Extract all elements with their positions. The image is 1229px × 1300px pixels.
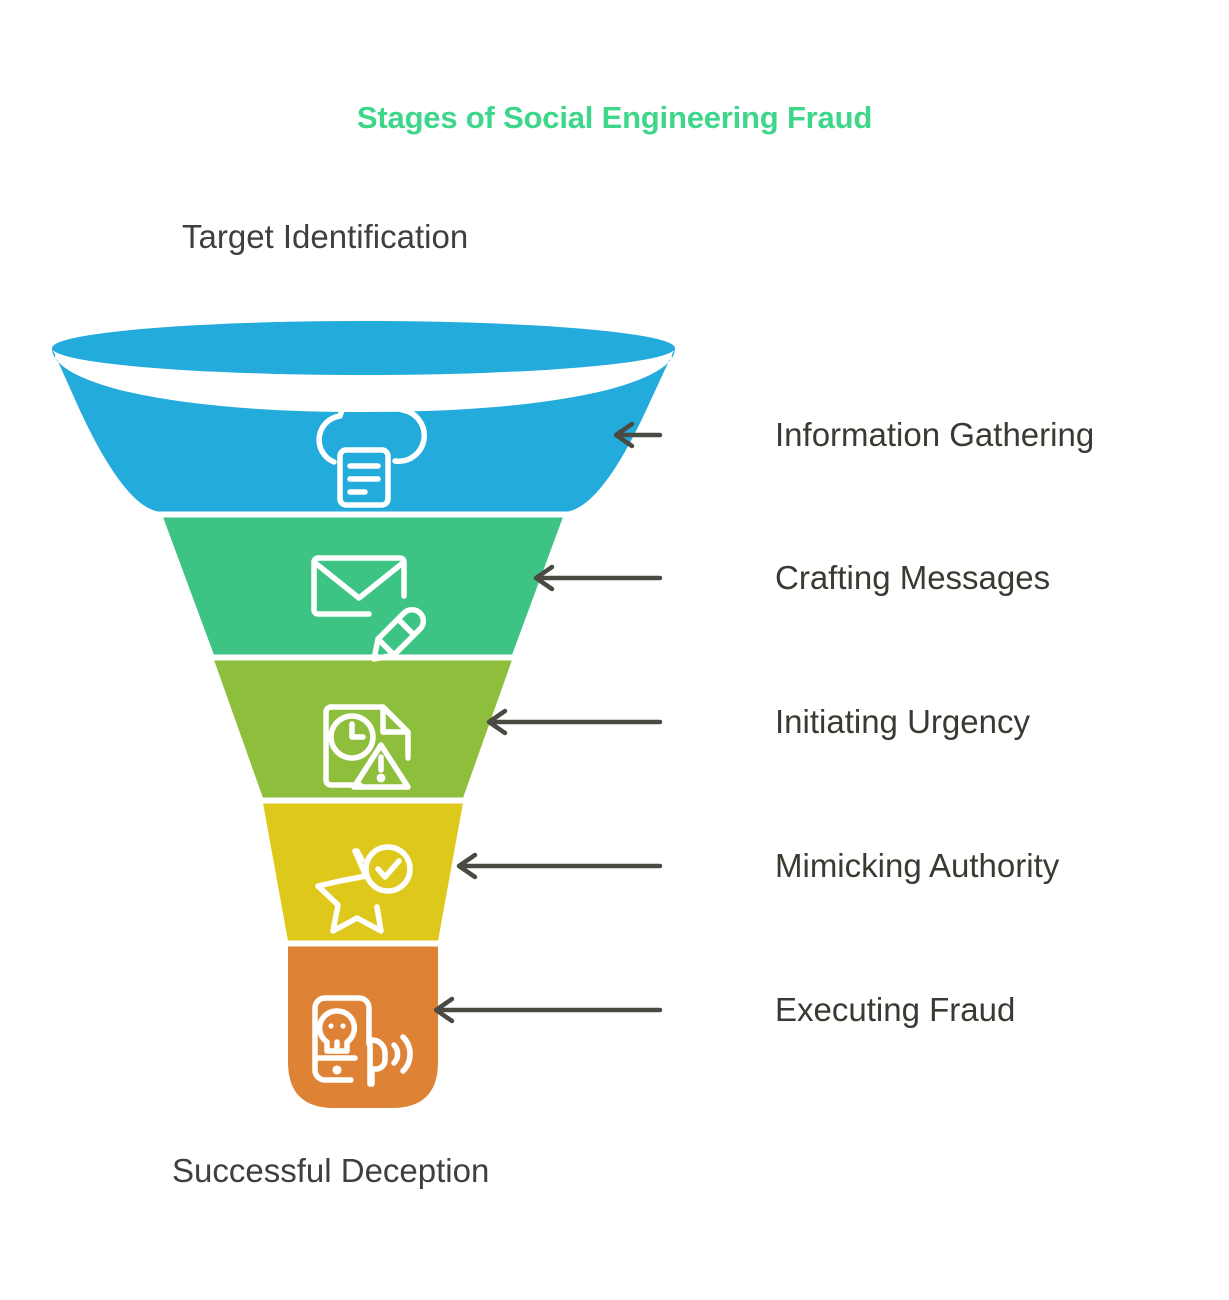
stage-label-mimicking-authority[interactable]: Mimicking Authority bbox=[775, 847, 1059, 885]
funnel-bands bbox=[52, 321, 675, 1108]
stage-label-crafting-messages[interactable]: Crafting Messages bbox=[775, 559, 1050, 597]
arrow-executing-fraud bbox=[436, 999, 660, 1021]
funnel-band-crafting-messages[interactable] bbox=[163, 517, 563, 655]
arrow-mimicking-authority bbox=[459, 855, 660, 877]
stage-label-executing-fraud[interactable]: Executing Fraud bbox=[775, 991, 1015, 1029]
funnel-rim-ellipse bbox=[52, 321, 675, 375]
funnel-graphic bbox=[0, 0, 1229, 1300]
stage-label-initiating-urgency[interactable]: Initiating Urgency bbox=[775, 703, 1030, 741]
arrow-crafting-messages bbox=[536, 567, 660, 589]
funnel-band-executing-fraud[interactable] bbox=[288, 946, 438, 1108]
funnel-diagram-canvas: Stages of Social Engineering Fraud Targe… bbox=[0, 0, 1229, 1300]
arrow-initiating-urgency bbox=[489, 711, 660, 733]
stage-label-information-gathering[interactable]: Information Gathering bbox=[775, 416, 1094, 454]
